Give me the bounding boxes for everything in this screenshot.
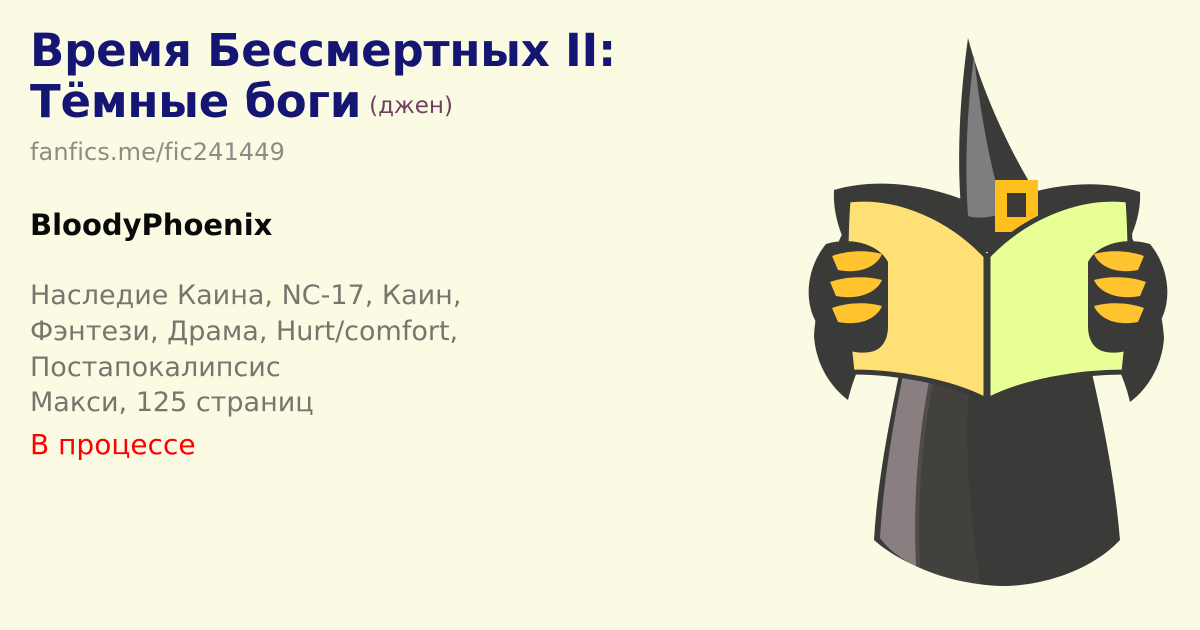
metadata-line: Постапокалипсис bbox=[30, 350, 730, 386]
wizard-reading-book-illustration bbox=[790, 0, 1200, 630]
wizard-illustration-svg bbox=[790, 0, 1200, 630]
metadata-line: Фэнтези, Драма, Hurt/comfort, bbox=[30, 314, 730, 350]
story-url[interactable]: fanfics.me/fic241449 bbox=[30, 138, 800, 166]
story-metadata: Наследие Каина, NC-17, Каин, Фэнтези, Др… bbox=[30, 278, 730, 463]
hat-buckle-hole bbox=[1007, 193, 1026, 217]
title-line-2-row: Тёмные боги(джен) bbox=[30, 77, 800, 128]
author-name[interactable]: BloodyPhoenix bbox=[30, 208, 800, 242]
story-size: Макси, 125 страниц bbox=[30, 385, 730, 421]
status-badge: В процессе bbox=[30, 427, 730, 462]
preview-card: Время Бессмертных II: Тёмные боги(джен) … bbox=[0, 0, 1200, 630]
genre-tag: (джен) bbox=[369, 93, 453, 119]
title-line-1: Время Бессмертных II: bbox=[30, 26, 800, 77]
story-info-column: Время Бессмертных II: Тёмные боги(джен) … bbox=[30, 26, 800, 462]
metadata-line: Наследие Каина, NC-17, Каин, bbox=[30, 278, 730, 314]
page-title: Время Бессмертных II: Тёмные боги(джен) bbox=[30, 26, 800, 128]
title-line-2: Тёмные боги bbox=[30, 75, 361, 128]
